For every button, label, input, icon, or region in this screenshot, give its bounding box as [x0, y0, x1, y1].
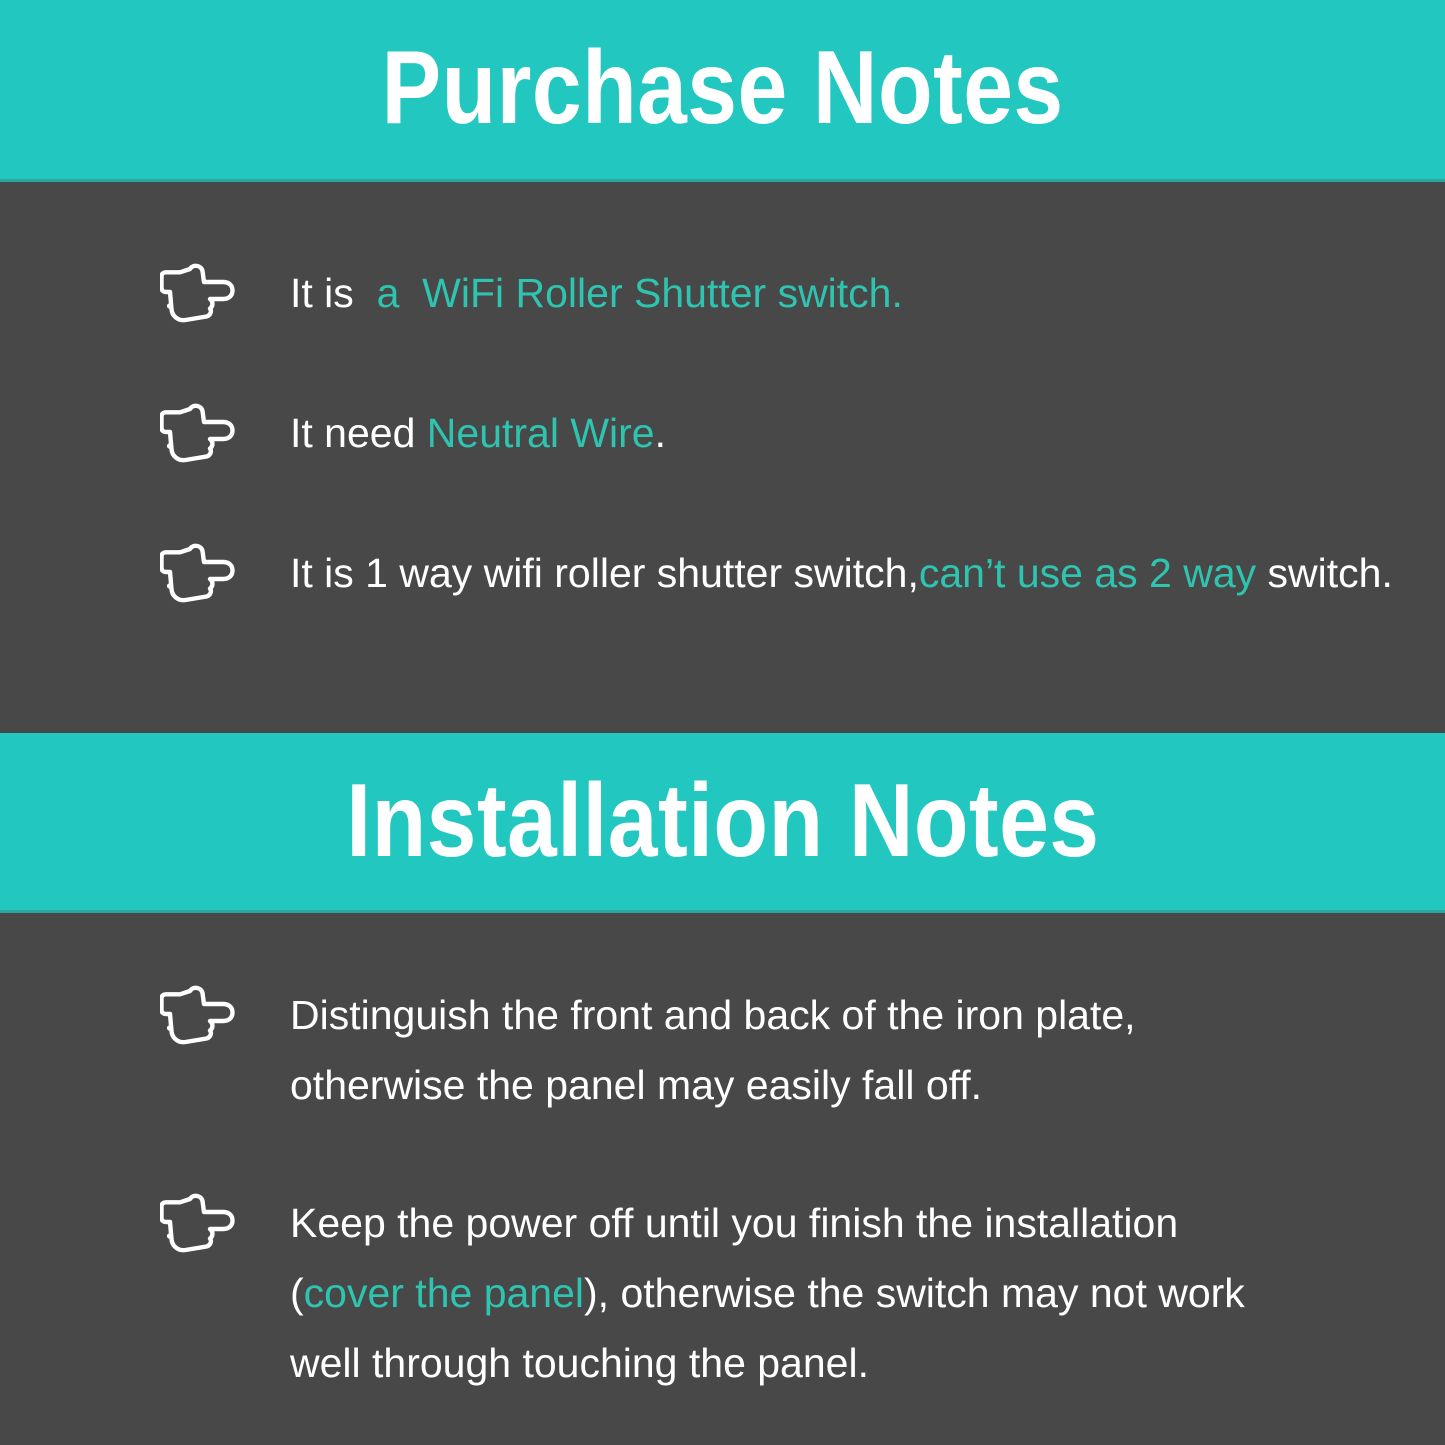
note-segment: It is	[290, 270, 377, 316]
note-segment: .	[655, 410, 666, 456]
note-text: Distinguish the front and back of the ir…	[290, 980, 1136, 1120]
pointing-hand-icon	[160, 1192, 238, 1256]
note-text: Keep the power off until you finish the …	[290, 1188, 1245, 1398]
pointing-hand-icon	[160, 262, 238, 326]
note-text: It need Neutral Wire.	[290, 398, 666, 468]
list-item: It need Neutral Wire.	[160, 398, 666, 468]
installation-notes-header-band: Installation Notes	[0, 733, 1445, 913]
pointing-hand-icon	[160, 984, 238, 1048]
note-text: It is 1 way wifi roller shutter switch,c…	[290, 538, 1393, 608]
note-segment: It need	[290, 410, 427, 456]
installation-notes-title: Installation Notes	[346, 769, 1099, 877]
list-item: Keep the power off until you finish the …	[160, 1188, 1245, 1398]
pointing-hand-icon	[160, 402, 238, 466]
note-segment: It is 1 way wifi roller shutter switch,	[290, 550, 919, 596]
purchase-and-installation-notes-page: Purchase Notes It is a WiFi Roller Shutt…	[0, 0, 1445, 1445]
note-segment-highlight: a WiFi Roller Shutter switch.	[377, 270, 903, 316]
list-item: Distinguish the front and back of the ir…	[160, 980, 1136, 1120]
note-segment-highlight: Neutral Wire	[427, 410, 655, 456]
note-segment-highlight: cover the panel	[304, 1270, 584, 1316]
note-segment: switch.	[1256, 550, 1393, 596]
purchase-notes-title: Purchase Notes	[381, 36, 1063, 146]
purchase-notes-header-band: Purchase Notes	[0, 0, 1445, 182]
note-text: It is a WiFi Roller Shutter switch.	[290, 258, 903, 328]
list-item: It is 1 way wifi roller shutter switch,c…	[160, 538, 1393, 608]
list-item: It is a WiFi Roller Shutter switch.	[160, 258, 903, 328]
note-segment: Distinguish the front and back of the ir…	[290, 992, 1136, 1108]
pointing-hand-icon	[160, 542, 238, 606]
note-segment-highlight: can’t use as 2 way	[919, 550, 1256, 596]
